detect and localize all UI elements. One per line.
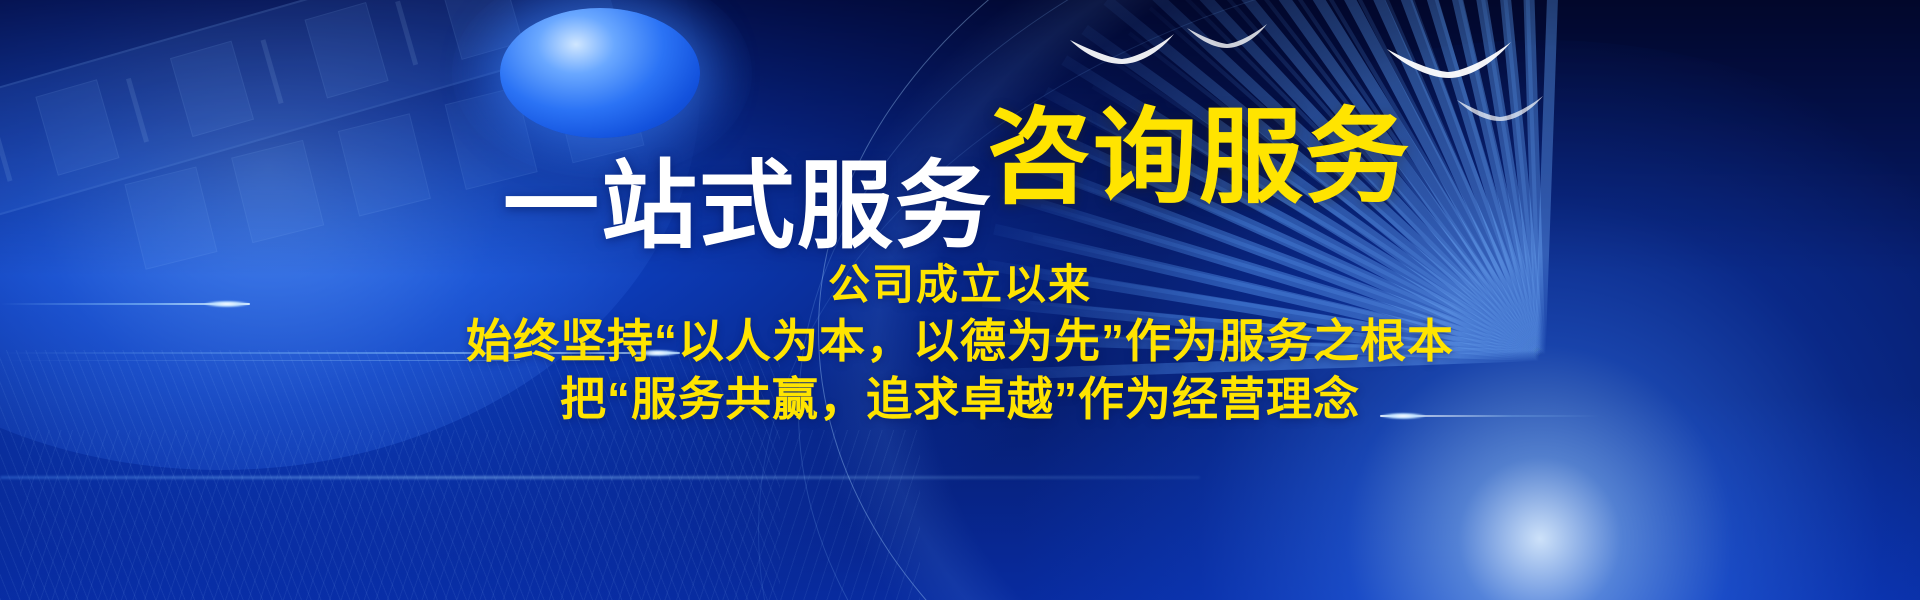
subtitle-line-3: 把“服务共赢，追求卓越”作为经营理念 [0,370,1920,428]
headline: 一站式服务咨询服务 [0,78,1920,229]
headline-main-text: 一站式服务 [503,128,993,267]
promo-banner: 一站式服务咨询服务 公司成立以来 始终坚持“以人为本，以德为先”作为服务之根本 … [0,0,1920,600]
banner-content: 一站式服务咨询服务 公司成立以来 始终坚持“以人为本，以德为先”作为服务之根本 … [0,0,1920,600]
subtitle-line-2: 始终坚持“以人为本，以德为先”作为服务之根本 [0,312,1920,370]
subtitle-line-1: 公司成立以来 [0,258,1920,312]
subtitle-block: 公司成立以来 始终坚持“以人为本，以德为先”作为服务之根本 把“服务共赢，追求卓… [0,258,1920,428]
headline-accent-text: 咨询服务 [987,72,1411,223]
